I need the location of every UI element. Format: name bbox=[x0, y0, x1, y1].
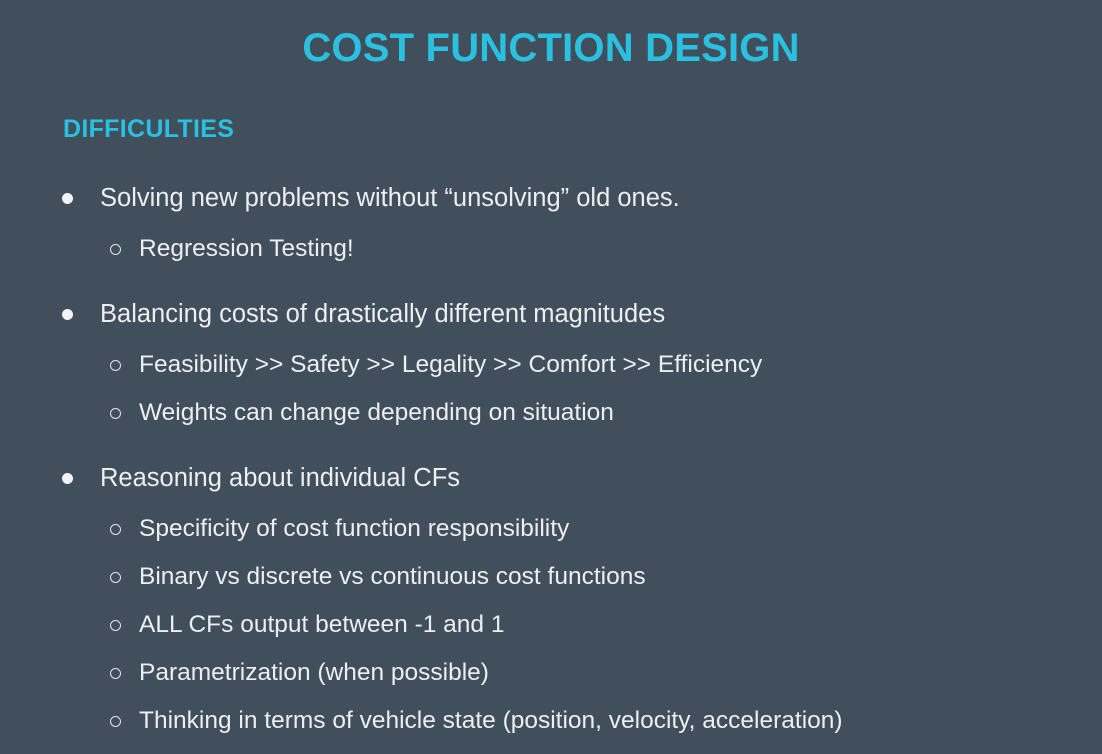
bullet-text: Thinking in terms of vehicle state (posi… bbox=[139, 697, 843, 745]
bullet-item-level2: Regression Testing! bbox=[0, 225, 1102, 273]
filled-disc-bullet-icon bbox=[62, 193, 73, 204]
hollow-circle-bullet-icon bbox=[110, 524, 121, 535]
bullet-item-level1: Reasoning about individual CFs bbox=[0, 452, 1102, 505]
presentation-slide: COST FUNCTION DESIGN DIFFICULTIES Solvin… bbox=[0, 0, 1102, 754]
hollow-circle-bullet-icon bbox=[110, 408, 121, 419]
bullet-item-level2: Binary vs discrete vs continuous cost fu… bbox=[0, 553, 1102, 601]
bullet-item-level2: Specificity of cost function responsibil… bbox=[0, 505, 1102, 553]
slide-title: COST FUNCTION DESIGN bbox=[0, 22, 1102, 74]
filled-disc-bullet-icon bbox=[62, 473, 73, 484]
bullet-text: Weights can change depending on situatio… bbox=[139, 389, 614, 437]
bullet-group: Balancing costs of drastically different… bbox=[0, 288, 1102, 437]
bullet-text: Specificity of cost function responsibil… bbox=[139, 505, 569, 553]
bullet-text: Parametrization (when possible) bbox=[139, 649, 489, 697]
hollow-circle-bullet-icon bbox=[110, 620, 121, 631]
bullet-item-level2: ALL CFs output between -1 and 1 bbox=[0, 601, 1102, 649]
bullet-text: Regression Testing! bbox=[139, 225, 354, 273]
bullet-item-level2: Thinking in terms of vehicle state (posi… bbox=[0, 697, 1102, 745]
bullet-item-level1: Balancing costs of drastically different… bbox=[0, 288, 1102, 341]
filled-disc-bullet-icon bbox=[62, 309, 73, 320]
bullet-item-level2: Feasibility >> Safety >> Legality >> Com… bbox=[0, 341, 1102, 389]
bullet-text: Balancing costs of drastically different… bbox=[100, 288, 665, 341]
hollow-circle-bullet-icon bbox=[110, 360, 121, 371]
bullet-text: Reasoning about individual CFs bbox=[100, 452, 460, 505]
bullet-list: Solving new problems without “unsolving”… bbox=[0, 172, 1102, 745]
bullet-text: Binary vs discrete vs continuous cost fu… bbox=[139, 553, 646, 601]
hollow-circle-bullet-icon bbox=[110, 572, 121, 583]
bullet-group: Solving new problems without “unsolving”… bbox=[0, 172, 1102, 273]
bullet-text: Solving new problems without “unsolving”… bbox=[100, 172, 680, 225]
bullet-item-level2: Parametrization (when possible) bbox=[0, 649, 1102, 697]
hollow-circle-bullet-icon bbox=[110, 716, 121, 727]
bullet-group: Reasoning about individual CFs Specifici… bbox=[0, 452, 1102, 745]
hollow-circle-bullet-icon bbox=[110, 668, 121, 679]
bullet-text: Feasibility >> Safety >> Legality >> Com… bbox=[139, 341, 762, 389]
bullet-item-level2: Weights can change depending on situatio… bbox=[0, 389, 1102, 437]
bullet-item-level1: Solving new problems without “unsolving”… bbox=[0, 172, 1102, 225]
bullet-text: ALL CFs output between -1 and 1 bbox=[139, 601, 504, 649]
section-heading-difficulties: DIFFICULTIES bbox=[63, 113, 234, 145]
hollow-circle-bullet-icon bbox=[110, 244, 121, 255]
